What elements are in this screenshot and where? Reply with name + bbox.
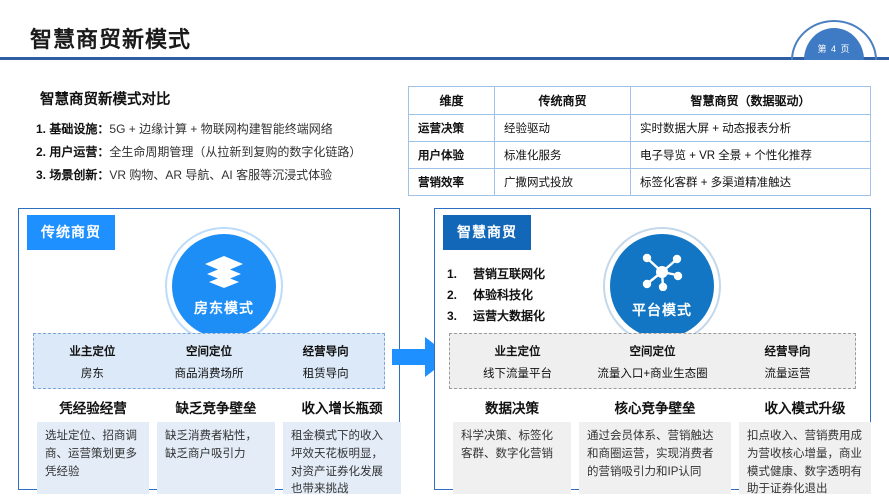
traditional-column-1: 凭经验经营 选址定位、招商调商、运营策划更多凭经验 — [37, 397, 149, 494]
intro-block: 智慧商贸新模式对比 1. 基础设施：5G + 边缘计算 + 物联网构建智能终端网… — [22, 78, 400, 200]
panel-tab-traditional: 传统商贸 — [27, 215, 115, 250]
intro-item-3-sep: ： — [97, 168, 109, 182]
page-header: 智慧商贸新模式 第 4 页 — [0, 0, 889, 60]
intro-item-2-sep: ： — [97, 145, 109, 159]
traditional-column-3-title: 收入增长瓶颈 — [283, 397, 401, 417]
intro-item-1-number: 1. — [36, 122, 46, 136]
intro-item-1-text: 5G + 边缘计算 + 物联网构建智能终端网络 — [109, 122, 332, 136]
smart-column-2-title: 核心竞争壁垒 — [579, 397, 731, 417]
intro-item-3-number: 3. — [36, 168, 46, 182]
smart-column-2-body: 通过会员体系、营销触达和商圈运营，实现消费者的营销吸引力和IP认同 — [579, 422, 731, 494]
strip-header-space: 空间定位 — [585, 343, 720, 359]
page-number-badge: 第 4 页 — [791, 20, 877, 60]
table-cell-dimension: 营销效率 — [409, 169, 495, 196]
smart-bullet-2-number: 2. — [447, 288, 473, 302]
strip-header-row: 业主定位 空间定位 经营导向 — [450, 343, 855, 359]
strip-value-space: 商品消费场所 — [151, 365, 268, 381]
table-header-dimension: 维度 — [409, 87, 495, 115]
intro-item-2-number: 2. — [36, 145, 46, 159]
table-row: 营销效率 广撒网式投放 标签化客群 + 多渠道精准触达 — [409, 169, 871, 196]
smart-column-3: 收入模式升级 扣点收入、营销费用成为营收核心增量，商业模式健康、数字透明有助于证… — [739, 397, 871, 494]
traditional-column-3: 收入增长瓶颈 租金模式下的收入坪效天花板明显，对资产证券化发展也带来挑战 — [283, 397, 401, 494]
landlord-mode-circle: 房东模式 — [165, 227, 283, 345]
smart-bullet-3-text: 运营大数据化 — [473, 309, 545, 323]
intro-item-2: 2. 用户运营：全生命周期管理（从拉新到复购的数字化链路） — [36, 143, 361, 160]
smart-commerce-panel: 智慧商贸 — [434, 208, 871, 490]
smart-column-1: 数据决策 科学决策、标签化客群、数字化营销 — [453, 397, 571, 494]
smart-positioning-strip: 业主定位 空间定位 经营导向 线下流量平台 流量入口+商业生态圈 流量运营 — [449, 333, 856, 389]
traditional-commerce-panel: 传统商贸 房东模式 业主定位 空间定位 经营导向 房东 商品消费场所 租赁导向 — [18, 208, 400, 490]
table-header-traditional: 传统商贸 — [495, 87, 631, 115]
table-header-row: 维度 传统商贸 智慧商贸（数据驱动） — [409, 87, 871, 115]
page-title: 智慧商贸新模式 — [30, 22, 191, 54]
intro-item-1-sep: ： — [97, 122, 109, 136]
layers-icon — [203, 255, 245, 294]
smart-column-1-body: 科学决策、标签化客群、数字化营销 — [453, 422, 571, 494]
intro-item-2-text: 全生命周期管理（从拉新到复购的数字化链路） — [109, 145, 361, 159]
smart-column-3-title: 收入模式升级 — [739, 397, 871, 417]
table-cell-smart: 标签化客群 + 多渠道精准触达 — [631, 169, 871, 196]
strip-header-operation: 经营导向 — [267, 343, 384, 359]
traditional-column-1-body: 选址定位、招商调商、运营策划更多凭经验 — [37, 422, 149, 494]
traditional-column-2-title: 缺乏竞争壁垒 — [157, 397, 275, 417]
strip-value-operation: 租赁导向 — [267, 365, 384, 381]
strip-header-owner: 业主定位 — [450, 343, 585, 359]
smart-bullet-2-text: 体验科技化 — [473, 288, 533, 302]
strip-value-owner: 线下流量平台 — [450, 365, 585, 381]
intro-item-3-label: 场景创新 — [49, 168, 97, 182]
intro-item-3: 3. 场景创新：VR 购物、AR 导航、AI 客服等沉浸式体验 — [36, 166, 332, 183]
smart-bullet-3-number: 3. — [447, 309, 473, 323]
table-cell-smart: 电子导览 + VR 全景 + 个性化推荐 — [631, 142, 871, 169]
landlord-mode-label: 房东模式 — [194, 298, 254, 318]
smart-bullet-2: 2.体验科技化 — [447, 286, 533, 303]
intro-item-3-text: VR 购物、AR 导航、AI 客服等沉浸式体验 — [109, 168, 332, 182]
strip-header-space: 空间定位 — [151, 343, 268, 359]
network-nodes-icon — [641, 253, 683, 296]
table-cell-smart: 实时数据大屏 + 动态报表分析 — [631, 115, 871, 142]
strip-header-operation: 经营导向 — [720, 343, 855, 359]
comparison-table: 维度 传统商贸 智慧商贸（数据驱动） 运营决策 经验驱动 实时数据大屏 + 动态… — [408, 86, 871, 196]
traditional-column-1-title: 凭经验经营 — [37, 397, 149, 417]
smart-bullet-3: 3.运营大数据化 — [447, 307, 545, 324]
traditional-positioning-strip: 业主定位 空间定位 经营导向 房东 商品消费场所 租赁导向 — [33, 333, 385, 389]
platform-mode-circle-inner: 平台模式 — [610, 234, 714, 338]
table-cell-dimension: 用户体验 — [409, 142, 495, 169]
smart-column-1-title: 数据决策 — [453, 397, 571, 417]
strip-value-row: 线下流量平台 流量入口+商业生态圈 流量运营 — [450, 365, 855, 381]
strip-value-operation: 流量运营 — [720, 365, 855, 381]
strip-value-owner: 房东 — [34, 365, 151, 381]
traditional-column-2-body: 缺乏消费者粘性，缺乏商户吸引力 — [157, 422, 275, 494]
smart-bullet-1-number: 1. — [447, 267, 473, 281]
table-row: 用户体验 标准化服务 电子导览 + VR 全景 + 个性化推荐 — [409, 142, 871, 169]
smart-column-2: 核心竞争壁垒 通过会员体系、营销触达和商圈运营，实现消费者的营销吸引力和IP认同 — [579, 397, 731, 494]
traditional-column-2: 缺乏竞争壁垒 缺乏消费者粘性，缺乏商户吸引力 — [157, 397, 275, 494]
intro-title: 智慧商贸新模式对比 — [40, 88, 171, 109]
intro-item-1-label: 基础设施 — [49, 122, 97, 136]
table-cell-dimension: 运营决策 — [409, 115, 495, 142]
landlord-mode-circle-inner: 房东模式 — [172, 234, 276, 338]
platform-mode-label: 平台模式 — [632, 300, 692, 320]
table-header-smart: 智慧商贸（数据驱动） — [631, 87, 871, 115]
smart-column-3-body: 扣点收入、营销费用成为营收核心增量，商业模式健康、数字透明有助于证券化退出 — [739, 422, 871, 494]
smart-bullet-1: 1.营销互联网化 — [447, 265, 545, 282]
panel-tab-smart: 智慧商贸 — [443, 215, 531, 250]
strip-value-row: 房东 商品消费场所 租赁导向 — [34, 365, 384, 381]
header-divider — [0, 57, 889, 60]
table-cell-traditional: 广撒网式投放 — [495, 169, 631, 196]
strip-value-space: 流量入口+商业生态圈 — [585, 365, 720, 381]
table-row: 运营决策 经验驱动 实时数据大屏 + 动态报表分析 — [409, 115, 871, 142]
intro-item-1: 1. 基础设施：5G + 边缘计算 + 物联网构建智能终端网络 — [36, 120, 333, 137]
table-cell-traditional: 经验驱动 — [495, 115, 631, 142]
table-cell-traditional: 标准化服务 — [495, 142, 631, 169]
intro-item-2-label: 用户运营 — [49, 145, 97, 159]
traditional-column-3-body: 租金模式下的收入坪效天花板明显，对资产证券化发展也带来挑战 — [283, 422, 401, 494]
smart-bullet-1-text: 营销互联网化 — [473, 267, 545, 281]
strip-header-owner: 业主定位 — [34, 343, 151, 359]
platform-mode-circle: 平台模式 — [603, 227, 721, 345]
strip-header-row: 业主定位 空间定位 经营导向 — [34, 343, 384, 359]
